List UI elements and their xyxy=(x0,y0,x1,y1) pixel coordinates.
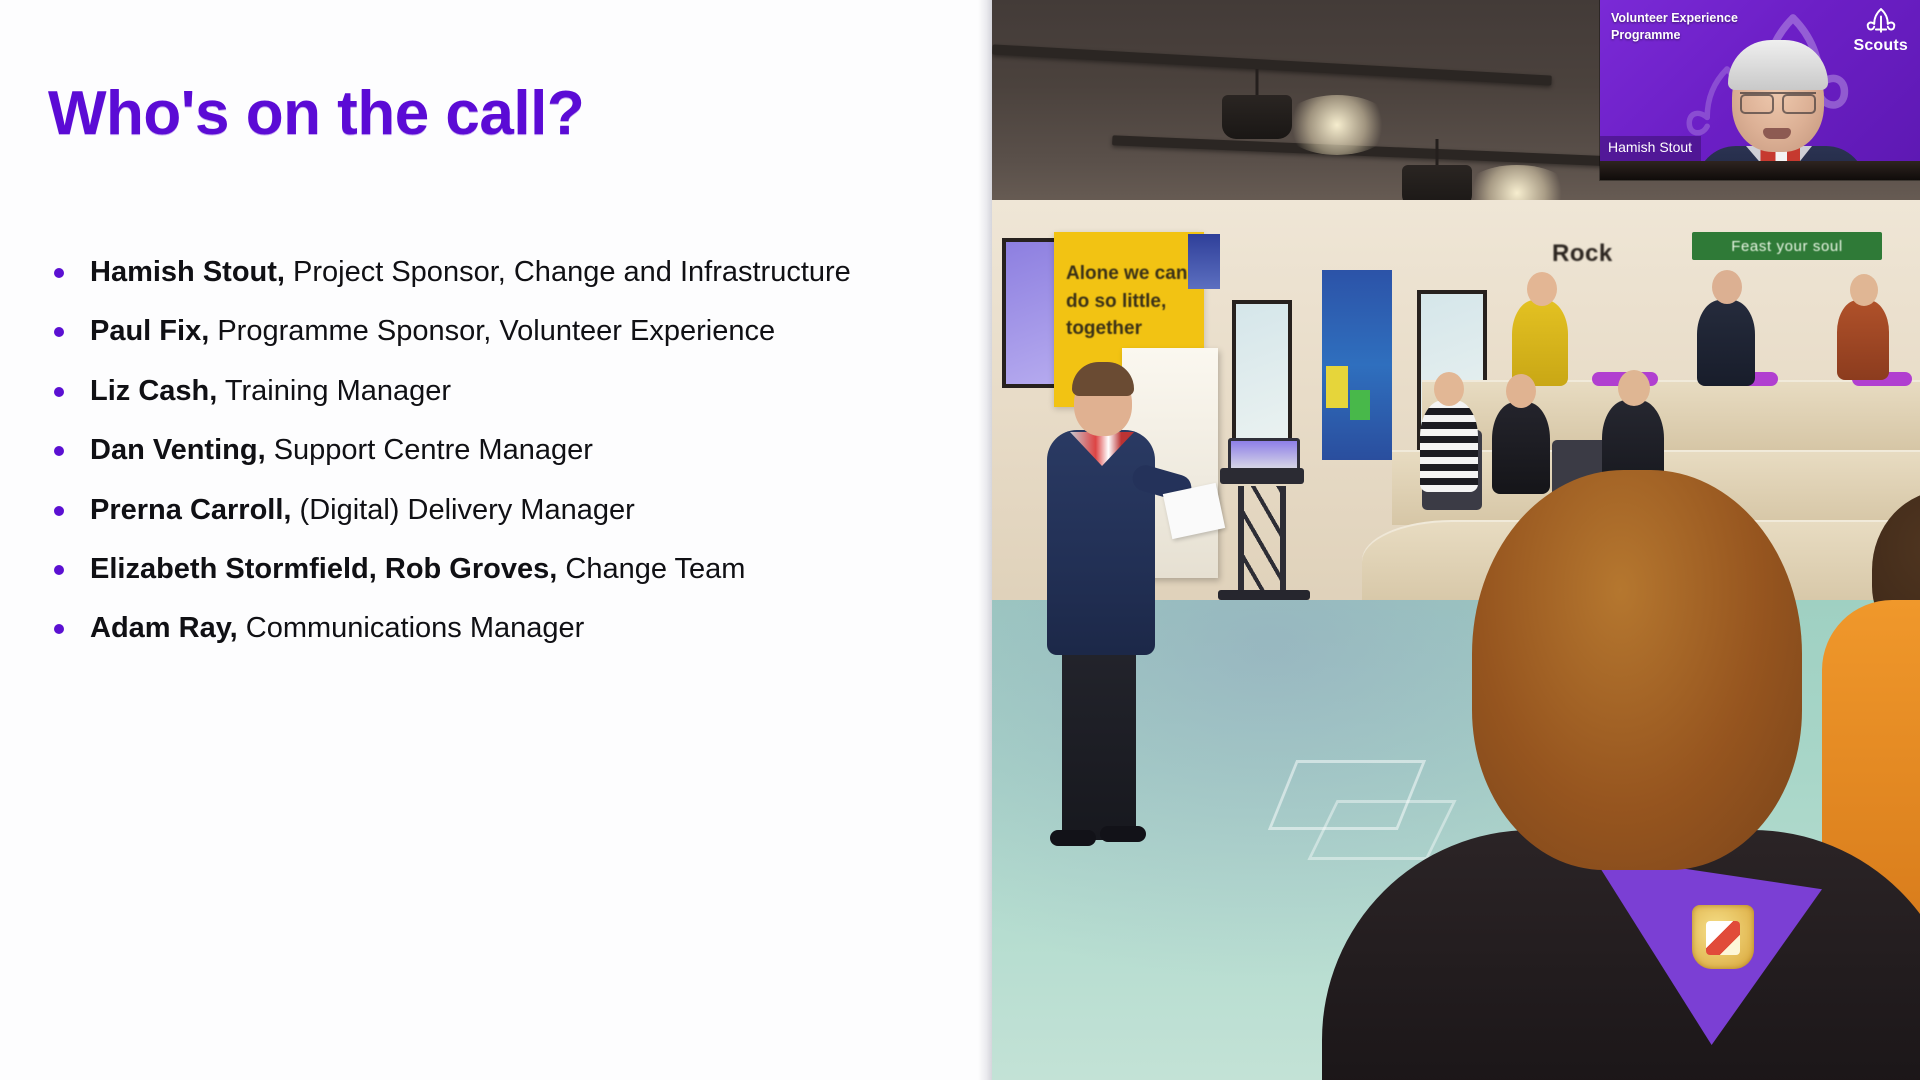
list-item: Elizabeth Stormfield, Rob Groves, Change… xyxy=(48,552,948,587)
list-item: Prerna Carroll, (Digital) Delivery Manag… xyxy=(48,493,948,528)
poster-chip xyxy=(1350,390,1370,420)
attendee-role: Project Sponsor, Change and Infrastructu… xyxy=(285,256,851,288)
scouts-wordmark: Scouts xyxy=(1853,37,1908,55)
attendee-name: Paul Fix, xyxy=(90,315,209,347)
attendee-name: Elizabeth Stormfield, Rob Groves, xyxy=(90,553,557,585)
presentation-slide: Who's on the call? Hamish Stout, Project… xyxy=(0,0,992,1080)
seated-person-head xyxy=(1712,270,1742,304)
poster-blue xyxy=(1322,270,1392,460)
list-item-text: Prerna Carroll, (Digital) Delivery Manag… xyxy=(90,493,635,528)
bullet-dot-icon xyxy=(54,327,64,337)
poster-text: Alone we can do so little, together xyxy=(1066,260,1196,343)
attendee-role: Training Manager xyxy=(217,375,451,407)
fleur-de-lis-icon xyxy=(1864,6,1898,36)
podium-top xyxy=(1220,468,1304,484)
bullet-dot-icon xyxy=(54,387,64,397)
participant-glasses xyxy=(1740,92,1816,109)
list-item-text: Hamish Stout, Project Sponsor, Change an… xyxy=(90,255,851,290)
attendee-name: Adam Ray, xyxy=(90,612,238,644)
attendee-name: Liz Cash, xyxy=(90,375,217,407)
participant-mouth xyxy=(1763,128,1791,139)
list-item-text: Elizabeth Stormfield, Rob Groves, Change… xyxy=(90,552,745,587)
participant-video-tile[interactable]: Volunteer Experience Programme Scouts Ha… xyxy=(1600,0,1920,180)
programme-title-overlay: Volunteer Experience Programme xyxy=(1611,10,1761,43)
attendee-role: Communications Manager xyxy=(238,612,585,644)
bullet-dot-icon xyxy=(54,624,64,634)
poster-chip xyxy=(1326,366,1348,408)
list-item: Hamish Stout, Project Sponsor, Change an… xyxy=(48,255,948,290)
seated-person-head xyxy=(1506,374,1536,408)
bullet-dot-icon xyxy=(54,565,64,575)
pendant-light xyxy=(1222,95,1292,139)
list-item: Paul Fix, Programme Sponsor, Volunteer E… xyxy=(48,314,948,349)
list-item-text: Dan Venting, Support Centre Manager xyxy=(90,433,593,468)
podium-truss xyxy=(1238,486,1286,596)
seated-person xyxy=(1492,402,1550,494)
scouts-logo: Scouts xyxy=(1853,6,1908,55)
attendee-role: (Digital) Delivery Manager xyxy=(291,494,634,526)
attendee-name: Dan Venting, xyxy=(90,434,266,466)
seated-person xyxy=(1697,300,1755,386)
presenter-shoe xyxy=(1100,826,1146,842)
list-item-text: Adam Ray, Communications Manager xyxy=(90,611,584,646)
laptop xyxy=(1228,438,1300,472)
list-item: Dan Venting, Support Centre Manager xyxy=(48,433,948,468)
attendee-name: Hamish Stout, xyxy=(90,256,285,288)
slide-title: Who's on the call? xyxy=(48,78,584,149)
attendee-name: Prerna Carroll, xyxy=(90,494,291,526)
seated-person xyxy=(1837,300,1889,380)
seated-person xyxy=(1420,400,1478,492)
video-tile-bottom-strip xyxy=(1600,161,1920,180)
participant-name-label: Hamish Stout xyxy=(1600,136,1701,161)
attendee-list: Hamish Stout, Project Sponsor, Change an… xyxy=(48,255,948,671)
bullet-dot-icon xyxy=(54,268,64,278)
necker-woggle-badge xyxy=(1692,905,1754,969)
bullet-dot-icon xyxy=(54,446,64,456)
attendee-role: Programme Sponsor, Volunteer Experience xyxy=(209,315,775,347)
podium-base xyxy=(1218,590,1310,600)
list-item-text: Paul Fix, Programme Sponsor, Volunteer E… xyxy=(90,314,775,349)
seated-person-head xyxy=(1618,370,1650,406)
list-item: Adam Ray, Communications Manager xyxy=(48,611,948,646)
seated-person-head xyxy=(1434,372,1464,406)
participant-name-text: Hamish Stout xyxy=(1608,139,1692,155)
green-sign-text: Feast your soul xyxy=(1731,238,1843,255)
attendee-role: Support Centre Manager xyxy=(266,434,593,466)
seated-person-head xyxy=(1850,274,1878,306)
poster-small-blue xyxy=(1188,234,1220,289)
green-sign: Feast your soul xyxy=(1692,232,1882,260)
bullet-dot-icon xyxy=(54,506,64,516)
attendee-role: Change Team xyxy=(557,553,745,585)
foreground-person-head xyxy=(1472,470,1802,870)
list-item-text: Liz Cash, Training Manager xyxy=(90,374,451,409)
list-item: Liz Cash, Training Manager xyxy=(48,374,948,409)
presenter-legs xyxy=(1062,640,1136,840)
meeting-screen-share: Who's on the call? Hamish Stout, Project… xyxy=(0,0,1920,1080)
rock-sign-text: Rock xyxy=(1552,240,1613,268)
presenter-shoe xyxy=(1050,830,1096,846)
seated-person-head xyxy=(1527,272,1557,306)
light-glow xyxy=(1282,95,1392,155)
